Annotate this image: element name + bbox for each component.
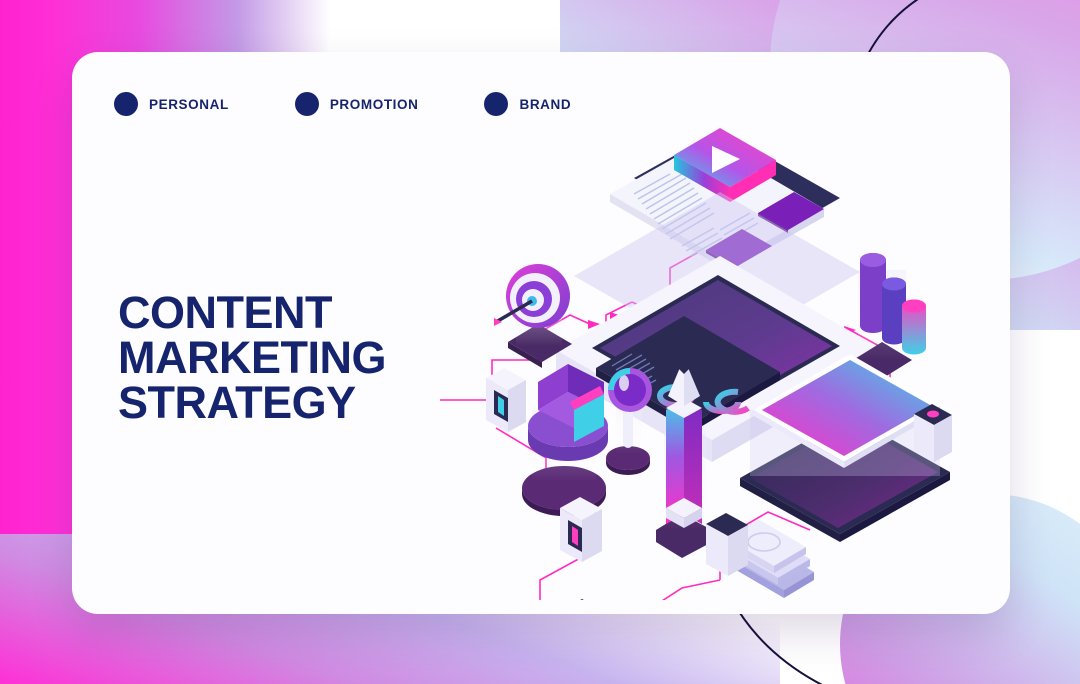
pie-chart-3d bbox=[522, 364, 608, 516]
screenshot-stage: PERSONAL PROMOTION BRAND CONTENT MARKETI… bbox=[0, 0, 1080, 684]
filled-circle-icon bbox=[114, 92, 138, 116]
nav-item-label: PROMOTION bbox=[330, 97, 419, 112]
pedestal-box bbox=[560, 497, 602, 562]
nav-item-label: PERSONAL bbox=[149, 97, 229, 112]
pedestal-box bbox=[562, 599, 604, 600]
isometric-illustration bbox=[420, 110, 1000, 600]
pedestal-box bbox=[486, 368, 526, 432]
nav-item-promotion[interactable]: PROMOTION bbox=[295, 92, 419, 116]
filled-circle-icon bbox=[295, 92, 319, 116]
pedestal-box bbox=[706, 513, 748, 576]
pedestal-box bbox=[914, 404, 952, 462]
nav-item-personal[interactable]: PERSONAL bbox=[114, 92, 229, 116]
